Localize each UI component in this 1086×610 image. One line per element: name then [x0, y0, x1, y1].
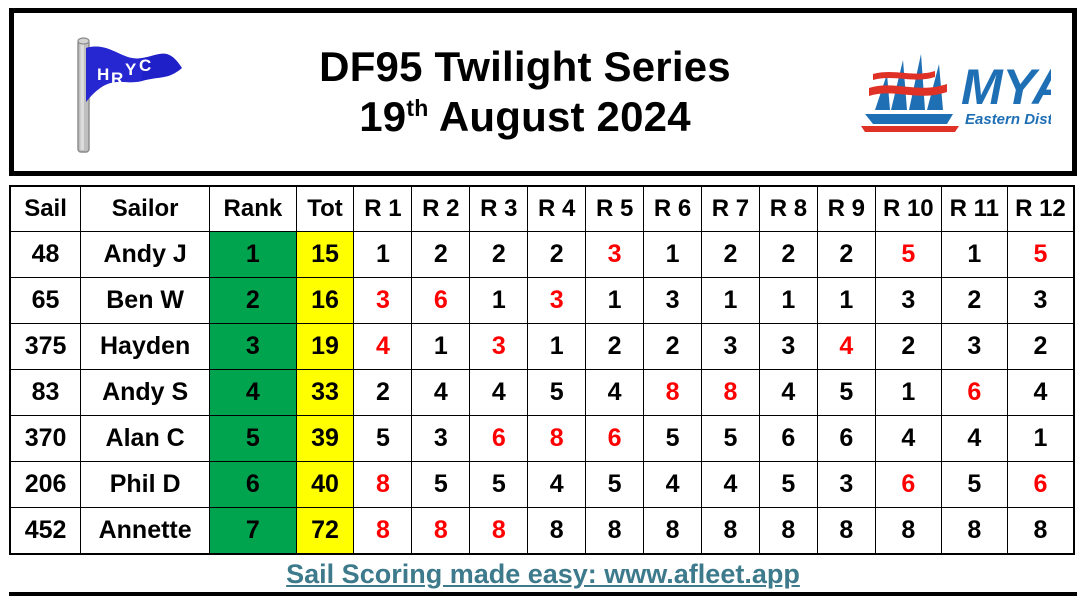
event-title-line1: DF95 Twilight Series [202, 42, 848, 92]
cell-total: 15 [296, 232, 354, 278]
mya-subtitle: Eastern District [965, 111, 1051, 128]
cell-sail: 452 [10, 508, 81, 555]
footer: Sail Scoring made easy: www.afleet.app [9, 559, 1077, 596]
cell-race-r11: 1 [941, 232, 1007, 278]
table-body: 48Andy J11512223122251565Ben W2163613131… [10, 232, 1074, 555]
cell-race-r2: 8 [412, 508, 470, 555]
table-row: 206Phil D640855454453656 [10, 462, 1074, 508]
column-header-r2[interactable]: R 2 [412, 186, 470, 232]
cell-rank: 7 [210, 508, 296, 555]
cell-race-r2: 6 [412, 278, 470, 324]
event-date-day: 19 [359, 93, 406, 140]
cell-race-r12: 8 [1007, 508, 1074, 555]
cell-race-r8: 3 [759, 324, 817, 370]
cell-race-r12: 4 [1007, 370, 1074, 416]
cell-race-r2: 4 [412, 370, 470, 416]
cell-race-r3: 6 [470, 416, 528, 462]
cell-race-r8: 8 [759, 508, 817, 555]
burgee-flag-icon: H R Y C [42, 28, 192, 156]
column-header-r7[interactable]: R 7 [702, 186, 760, 232]
cell-race-r7: 4 [702, 462, 760, 508]
cell-sail: 370 [10, 416, 81, 462]
cell-race-r6: 4 [644, 462, 702, 508]
cell-race-r7: 8 [702, 370, 760, 416]
column-header-r1[interactable]: R 1 [354, 186, 412, 232]
cell-race-r2: 5 [412, 462, 470, 508]
cell-race-r10: 2 [875, 324, 941, 370]
cell-race-r10: 1 [875, 370, 941, 416]
cell-race-r5: 8 [586, 508, 644, 555]
cell-race-r9: 8 [817, 508, 875, 555]
column-header-r10[interactable]: R 10 [875, 186, 941, 232]
cell-race-r2: 3 [412, 416, 470, 462]
cell-race-r5: 1 [586, 278, 644, 324]
cell-race-r8: 1 [759, 278, 817, 324]
cell-race-r5: 5 [586, 462, 644, 508]
results-table-zone: Sail Sailor Rank Tot R 1 R 2 R 3 R 4 R 5… [9, 185, 1077, 555]
svg-text:R: R [111, 69, 123, 88]
cell-race-r1: 2 [354, 370, 412, 416]
cell-race-r9: 5 [817, 370, 875, 416]
cell-rank: 1 [210, 232, 296, 278]
cell-race-r10: 3 [875, 278, 941, 324]
cell-race-r2: 2 [412, 232, 470, 278]
cell-race-r11: 3 [941, 324, 1007, 370]
cell-race-r5: 4 [586, 370, 644, 416]
cell-race-r5: 2 [586, 324, 644, 370]
cell-race-r9: 6 [817, 416, 875, 462]
cell-race-r9: 2 [817, 232, 875, 278]
cell-total: 39 [296, 416, 354, 462]
cell-race-r11: 4 [941, 416, 1007, 462]
cell-sailor: Ben W [81, 278, 210, 324]
cell-race-r1: 5 [354, 416, 412, 462]
cell-race-r1: 1 [354, 232, 412, 278]
results-page: H R Y C DF95 Twilight Series 19th August… [0, 0, 1086, 610]
cell-rank: 3 [210, 324, 296, 370]
cell-total: 19 [296, 324, 354, 370]
cell-race-r7: 1 [702, 278, 760, 324]
cell-race-r1: 8 [354, 462, 412, 508]
cell-race-r3: 4 [470, 370, 528, 416]
cell-sail: 48 [10, 232, 81, 278]
event-date-rest: August 2024 [429, 93, 691, 140]
svg-text:C: C [139, 56, 151, 75]
table-row: 375Hayden319413122334232 [10, 324, 1074, 370]
cell-race-r8: 2 [759, 232, 817, 278]
cell-race-r6: 1 [644, 232, 702, 278]
header-banner: H R Y C DF95 Twilight Series 19th August… [9, 8, 1077, 176]
cell-race-r12: 5 [1007, 232, 1074, 278]
cell-race-r12: 1 [1007, 416, 1074, 462]
cell-race-r10: 8 [875, 508, 941, 555]
cell-race-r3: 1 [470, 278, 528, 324]
cell-race-r4: 1 [528, 324, 586, 370]
cell-race-r6: 5 [644, 416, 702, 462]
column-header-rank[interactable]: Rank [210, 186, 296, 232]
column-header-sailor[interactable]: Sailor [81, 186, 210, 232]
column-header-r12[interactable]: R 12 [1007, 186, 1074, 232]
mya-sails-logo-icon: MYA Eastern District [855, 44, 1051, 140]
cell-race-r7: 5 [702, 416, 760, 462]
event-title: DF95 Twilight Series 19th August 2024 [202, 42, 848, 141]
cell-race-r8: 4 [759, 370, 817, 416]
cell-total: 72 [296, 508, 354, 555]
cell-race-r5: 3 [586, 232, 644, 278]
table-row: 48Andy J115122231222515 [10, 232, 1074, 278]
footer-divider [9, 592, 1077, 596]
cell-race-r9: 4 [817, 324, 875, 370]
cell-race-r10: 5 [875, 232, 941, 278]
event-date-ordinal: th [406, 95, 428, 121]
cell-race-r3: 3 [470, 324, 528, 370]
svg-text:Y: Y [125, 60, 137, 79]
afleet-link[interactable]: Sail Scoring made easy: www.afleet.app [286, 559, 800, 590]
table-header: Sail Sailor Rank Tot R 1 R 2 R 3 R 4 R 5… [10, 186, 1074, 232]
cell-total: 33 [296, 370, 354, 416]
column-header-r4[interactable]: R 4 [528, 186, 586, 232]
cell-race-r7: 8 [702, 508, 760, 555]
cell-sail: 65 [10, 278, 81, 324]
cell-race-r7: 2 [702, 232, 760, 278]
cell-race-r4: 3 [528, 278, 586, 324]
cell-race-r3: 5 [470, 462, 528, 508]
cell-race-r6: 2 [644, 324, 702, 370]
mya-logo: MYA Eastern District [848, 44, 1058, 140]
column-header-r11[interactable]: R 11 [941, 186, 1007, 232]
event-title-line2: 19th August 2024 [202, 92, 848, 142]
club-burgee: H R Y C [32, 28, 202, 156]
cell-sail: 83 [10, 370, 81, 416]
cell-race-r3: 8 [470, 508, 528, 555]
cell-race-r4: 2 [528, 232, 586, 278]
cell-race-r12: 2 [1007, 324, 1074, 370]
cell-rank: 2 [210, 278, 296, 324]
cell-race-r6: 3 [644, 278, 702, 324]
cell-sailor: Annette [81, 508, 210, 555]
cell-race-r8: 5 [759, 462, 817, 508]
column-header-r5[interactable]: R 5 [586, 186, 644, 232]
cell-rank: 4 [210, 370, 296, 416]
cell-total: 40 [296, 462, 354, 508]
cell-sailor: Phil D [81, 462, 210, 508]
cell-race-r1: 3 [354, 278, 412, 324]
race-results-table: Sail Sailor Rank Tot R 1 R 2 R 3 R 4 R 5… [9, 185, 1075, 555]
cell-race-r12: 3 [1007, 278, 1074, 324]
svg-text:H: H [97, 65, 109, 84]
cell-race-r6: 8 [644, 370, 702, 416]
cell-race-r11: 6 [941, 370, 1007, 416]
cell-race-r12: 6 [1007, 462, 1074, 508]
cell-race-r7: 3 [702, 324, 760, 370]
table-row: 370Alan C539536865566441 [10, 416, 1074, 462]
cell-race-r5: 6 [586, 416, 644, 462]
column-header-r9[interactable]: R 9 [817, 186, 875, 232]
mya-wordmark: MYA [961, 59, 1051, 115]
cell-race-r11: 8 [941, 508, 1007, 555]
column-header-r8[interactable]: R 8 [759, 186, 817, 232]
cell-sail: 375 [10, 324, 81, 370]
header-row: Sail Sailor Rank Tot R 1 R 2 R 3 R 4 R 5… [10, 186, 1074, 232]
column-header-r6[interactable]: R 6 [644, 186, 702, 232]
cell-sailor: Alan C [81, 416, 210, 462]
cell-race-r10: 6 [875, 462, 941, 508]
cell-race-r6: 8 [644, 508, 702, 555]
cell-race-r9: 1 [817, 278, 875, 324]
cell-race-r4: 5 [528, 370, 586, 416]
column-header-tot[interactable]: Tot [296, 186, 354, 232]
cell-rank: 5 [210, 416, 296, 462]
cell-sailor: Andy J [81, 232, 210, 278]
table-row: 83Andy S433244548845164 [10, 370, 1074, 416]
cell-race-r1: 8 [354, 508, 412, 555]
column-header-sail[interactable]: Sail [10, 186, 81, 232]
cell-race-r4: 8 [528, 416, 586, 462]
column-header-r3[interactable]: R 3 [470, 186, 528, 232]
cell-race-r1: 4 [354, 324, 412, 370]
cell-race-r10: 4 [875, 416, 941, 462]
cell-total: 16 [296, 278, 354, 324]
cell-race-r11: 5 [941, 462, 1007, 508]
table-row: 452Annette772888888888888 [10, 508, 1074, 555]
cell-race-r2: 1 [412, 324, 470, 370]
cell-race-r11: 2 [941, 278, 1007, 324]
cell-race-r4: 8 [528, 508, 586, 555]
cell-race-r9: 3 [817, 462, 875, 508]
cell-sailor: Andy S [81, 370, 210, 416]
cell-race-r3: 2 [470, 232, 528, 278]
cell-sail: 206 [10, 462, 81, 508]
cell-race-r8: 6 [759, 416, 817, 462]
cell-race-r4: 4 [528, 462, 586, 508]
table-row: 65Ben W216361313111323 [10, 278, 1074, 324]
cell-rank: 6 [210, 462, 296, 508]
cell-sailor: Hayden [81, 324, 210, 370]
